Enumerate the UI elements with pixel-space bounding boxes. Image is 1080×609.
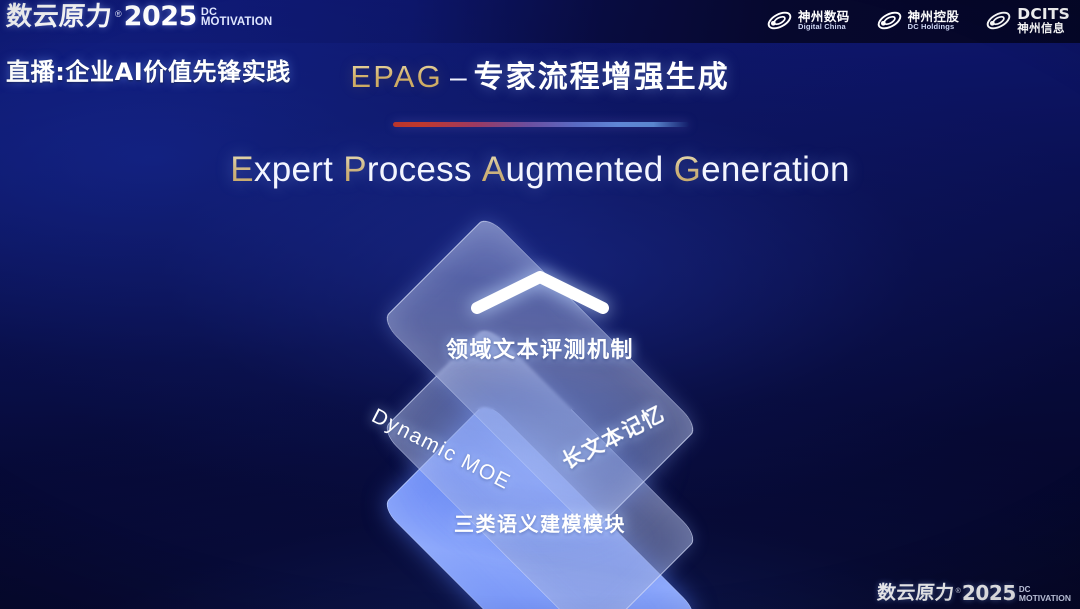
watermark-dc-motivation: DC MOTIVATION xyxy=(1019,586,1071,602)
partner-name-en: DCITS xyxy=(1017,6,1070,22)
subtitle-word-expert: xpert xyxy=(254,150,333,189)
partner-name-cn: 神州控股 xyxy=(908,10,960,23)
brand-year: 2025 xyxy=(124,3,197,30)
partner-logo-text: 神州控股 DC Holdings xyxy=(908,10,960,31)
partner-name-cn: 神州数码 xyxy=(798,10,850,23)
live-session-title: 直播:企业AI价值先锋实践 xyxy=(6,52,291,87)
gradient-divider xyxy=(393,122,689,127)
brand-dc-motivation: DC MOTIVATION xyxy=(201,7,272,28)
brand-registered-mark: ® xyxy=(115,9,122,19)
chevron-up-icon xyxy=(467,268,613,316)
title-acronym: EPAG xyxy=(350,59,443,94)
partner-name-en: Digital China xyxy=(798,23,850,31)
brand-name-cn: 数云原力 xyxy=(5,4,113,30)
watermark-year: 2025 xyxy=(962,583,1016,603)
diagram-label-bottom: 三类语义建模模块 xyxy=(0,508,1080,537)
partner-logo-dc-holdings: 神州控股 DC Holdings xyxy=(876,7,960,34)
title-dash: – xyxy=(450,61,467,94)
partner-logo-group: 神州数码 Digital China 神州控股 DC Holdings xyxy=(766,6,1070,34)
subtitle-word-process: rocess xyxy=(367,150,472,189)
subtitle-word-generation: eneration xyxy=(701,150,850,189)
subtitle-initial-p: P xyxy=(343,150,367,189)
swirl-icon xyxy=(985,7,1012,34)
diagram-layer-top-face xyxy=(381,215,699,533)
partner-logo-dcits: DCITS 神州信息 xyxy=(985,6,1070,34)
page-subtitle: Expert Process Augmented Generation xyxy=(0,150,1080,190)
watermark-name-cn: 数云原力 xyxy=(877,584,956,603)
title-chinese: 专家流程增强生成 xyxy=(474,60,730,95)
subtitle-word-augmented: ugmented xyxy=(505,150,663,189)
brand-logo: 数云原力 ® 2025 DC MOTIVATION xyxy=(6,3,272,30)
brand-dc-line2: MOTIVATION xyxy=(201,17,272,28)
partner-name-cn: 神州信息 xyxy=(1017,22,1070,34)
swirl-icon xyxy=(876,7,903,34)
subtitle-initial-a: A xyxy=(482,150,506,189)
footer-watermark: 数云原力 ® 2025 DC MOTIVATION xyxy=(877,583,1071,603)
presentation-slide: 数云原力 ® 2025 DC MOTIVATION 直播:企业AI价值先锋实践 … xyxy=(0,0,1080,609)
partner-logo-text: 神州数码 Digital China xyxy=(798,10,850,31)
watermark-dc-line2: MOTIVATION xyxy=(1019,594,1071,602)
diagram-label-top: 领域文本评测机制 xyxy=(0,332,1080,364)
partner-logo-digital-china: 神州数码 Digital China xyxy=(766,7,850,34)
watermark-registered-mark: ® xyxy=(956,588,961,595)
partner-logo-text: DCITS 神州信息 xyxy=(1017,6,1070,34)
subtitle-initial-e: E xyxy=(230,150,254,189)
partner-name-en: DC Holdings xyxy=(908,23,960,31)
subtitle-initial-g: G xyxy=(674,150,702,189)
swirl-icon xyxy=(766,7,793,34)
